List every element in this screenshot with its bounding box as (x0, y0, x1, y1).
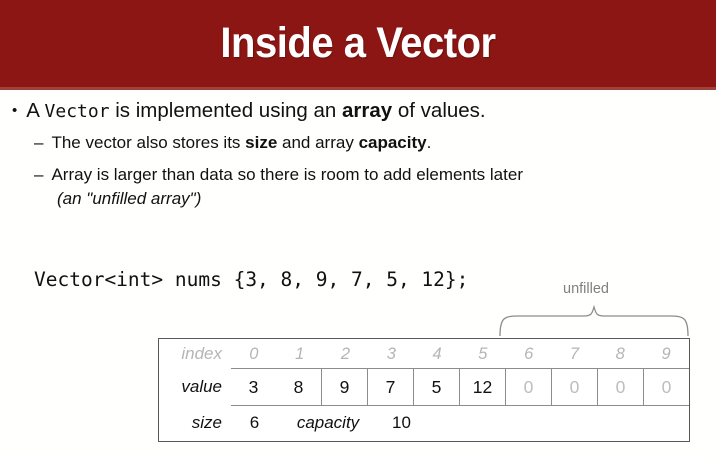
size-capacity-cells: 6 capacity 10 (231, 405, 689, 440)
bullet-part-plain-2: is implemented using an (110, 99, 342, 122)
dash-bullet-icon-2: – (34, 164, 43, 186)
bullet-part-code-vector: Vector (45, 101, 110, 122)
row-label-value: value (159, 377, 231, 397)
index-cell: 1 (277, 339, 323, 369)
bullet-main-text: A Vector is implemented using an array o… (26, 98, 485, 124)
bullet-sub-note: (an "unfilled array") (57, 189, 716, 209)
index-cell: 5 (460, 339, 506, 369)
table-row-size-capacity: size 6 capacity 10 (159, 405, 689, 440)
bullet-sub-2-text: Array is larger than data so there is ro… (51, 164, 523, 186)
capacity-label: capacity (278, 413, 378, 433)
bullet-item-main: • A Vector is implemented using an array… (12, 98, 716, 124)
index-cell: 3 (368, 339, 414, 369)
index-cell: 8 (597, 339, 643, 369)
value-cell-empty: 0 (597, 369, 643, 405)
index-cell: 6 (506, 339, 552, 369)
value-cell: 3 (231, 369, 276, 405)
index-cells: 0 1 2 3 4 5 6 7 8 9 (231, 339, 689, 369)
slide-title-banner: Inside a Vector (0, 0, 716, 87)
index-cell: 4 (414, 339, 460, 369)
bullet-part-plain-3: of values. (392, 99, 485, 122)
code-snippet: Vector<int> nums {3, 8, 9, 7, 5, 12}; (34, 268, 468, 291)
row-label-size: size (159, 413, 231, 433)
value-cell: 12 (459, 369, 505, 405)
bullet-dot-icon: • (12, 103, 17, 118)
index-cell: 0 (231, 339, 277, 369)
sub1-pre: The vector also stores its (51, 133, 245, 152)
index-cell: 9 (643, 339, 689, 369)
value-cell-empty: 0 (551, 369, 597, 405)
sub1-bold-size: size (245, 133, 277, 152)
value-cell: 5 (413, 369, 459, 405)
value-cell: 8 (276, 369, 321, 405)
page-title: Inside a Vector (220, 19, 495, 68)
bullet-part-plain-1: A (26, 99, 44, 122)
bullet-sub-1-text: The vector also stores its size and arra… (51, 132, 431, 154)
value-cell-empty: 0 (643, 369, 689, 405)
capacity-value: 10 (378, 413, 425, 433)
slide-body: • A Vector is implemented using an array… (0, 98, 716, 209)
array-diagram-table: index 0 1 2 3 4 5 6 7 8 9 value 3 8 9 7 … (158, 338, 690, 442)
unfilled-brace-icon (498, 305, 690, 337)
bullet-item-sub-1: – The vector also stores its size and ar… (34, 132, 716, 154)
value-cell: 7 (367, 369, 413, 405)
sub1-post: . (427, 133, 432, 152)
sub1-mid: and array (277, 133, 358, 152)
index-cell: 7 (552, 339, 598, 369)
size-value: 6 (231, 413, 278, 433)
row-label-index: index (159, 344, 231, 364)
value-cell: 9 (321, 369, 367, 405)
table-row-index: index 0 1 2 3 4 5 6 7 8 9 (159, 339, 689, 369)
title-underline-divider (0, 87, 716, 90)
value-cells: 3 8 9 7 5 12 0 0 0 0 (231, 368, 689, 406)
bullet-item-sub-2: – Array is larger than data so there is … (34, 164, 716, 186)
table-row-value: value 3 8 9 7 5 12 0 0 0 0 (159, 369, 689, 405)
sub1-bold-capacity: capacity (359, 133, 427, 152)
value-cell-empty: 0 (505, 369, 551, 405)
bullet-part-bold-array: array (342, 99, 392, 122)
dash-bullet-icon: – (34, 132, 43, 154)
index-cell: 2 (323, 339, 369, 369)
unfilled-annotation-label: unfilled (563, 281, 609, 297)
